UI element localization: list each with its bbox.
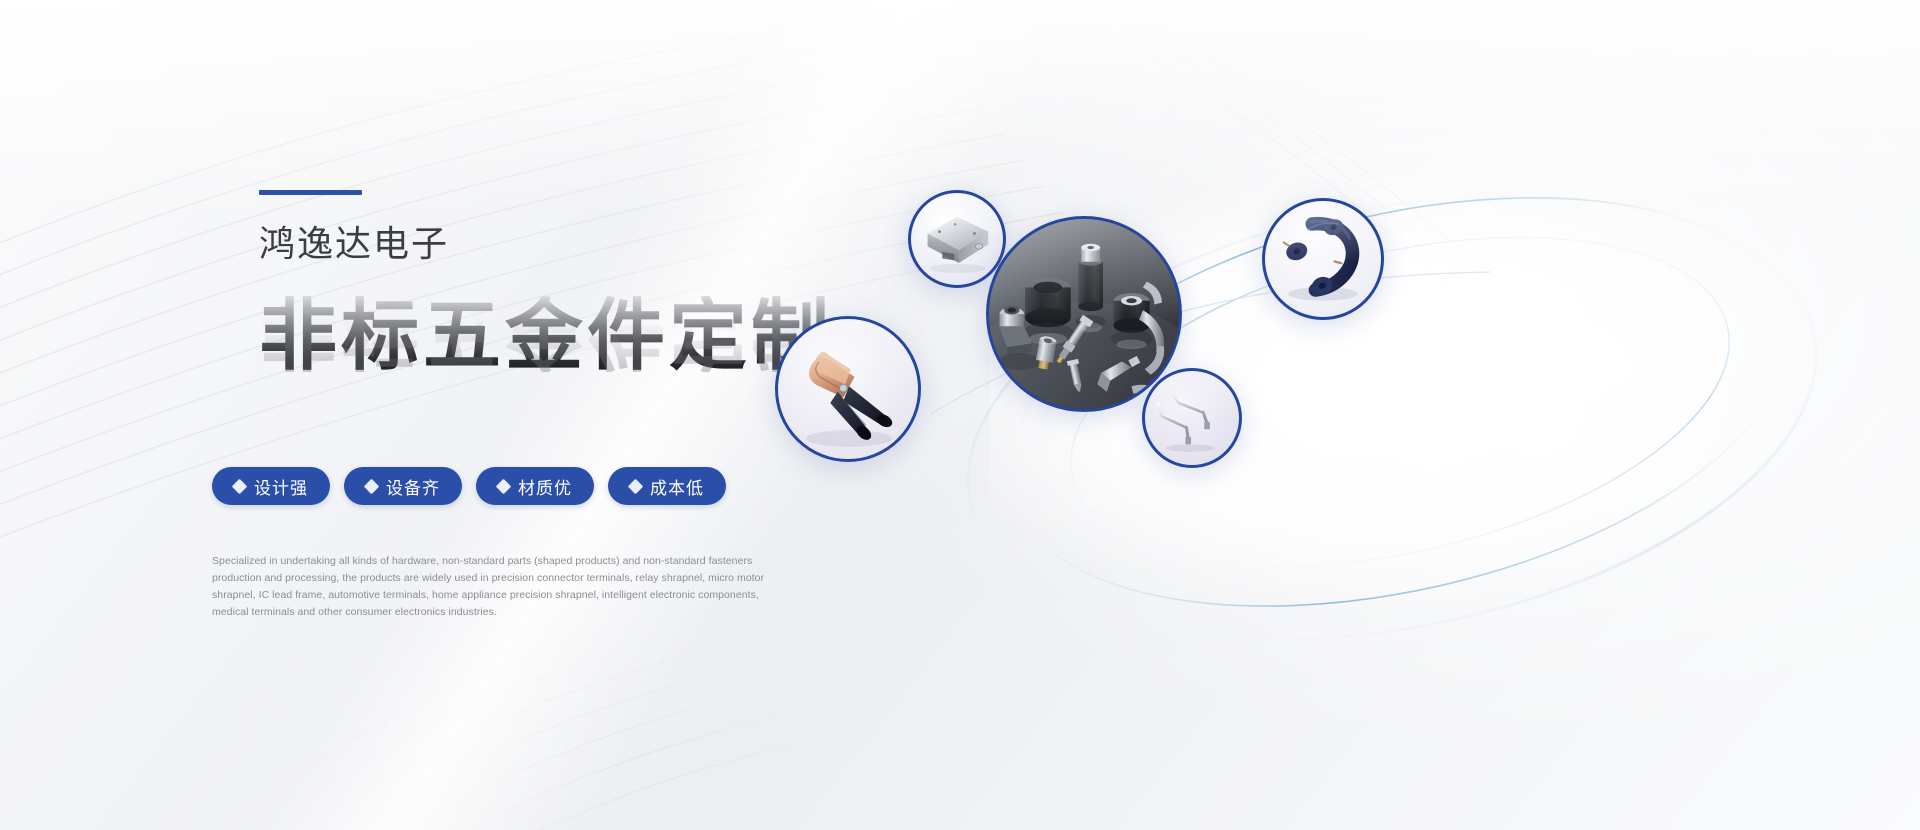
feature-pill-design[interactable]: 设计强 bbox=[212, 467, 330, 505]
feature-pill-label: 设备齐 bbox=[386, 474, 440, 499]
description-paragraph: Specialized in undertaking all kinds of … bbox=[212, 553, 787, 621]
company-name: 鸿逸达电子 bbox=[259, 226, 449, 262]
feature-pill-label: 设计强 bbox=[254, 474, 308, 499]
diamond-icon bbox=[232, 478, 248, 494]
feature-pill-equipment[interactable]: 设备齐 bbox=[344, 467, 462, 505]
product-bubble-snap-ring[interactable] bbox=[1262, 198, 1384, 320]
feature-pill-label: 材质优 bbox=[518, 474, 572, 499]
diamond-icon bbox=[628, 478, 644, 494]
feature-pill-material[interactable]: 材质优 bbox=[476, 467, 594, 505]
feature-pill-list: 设计强 设备齐 材质优 成本低 bbox=[212, 467, 726, 505]
product-bubble-alligator-clip[interactable] bbox=[775, 316, 921, 462]
feature-pill-label: 成本低 bbox=[650, 474, 704, 499]
diamond-icon bbox=[364, 478, 380, 494]
accent-bar bbox=[259, 190, 362, 195]
product-bubble-terminal-pins[interactable] bbox=[1142, 368, 1242, 468]
feature-pill-cost[interactable]: 成本低 bbox=[608, 467, 726, 505]
product-visual-cluster bbox=[930, 140, 1920, 660]
hero-banner: 鸿逸达电子 非标五金件定制 非标五金件定制 设计强 设备齐 材质优 成本低 bbox=[0, 0, 1920, 830]
diamond-icon bbox=[496, 478, 512, 494]
